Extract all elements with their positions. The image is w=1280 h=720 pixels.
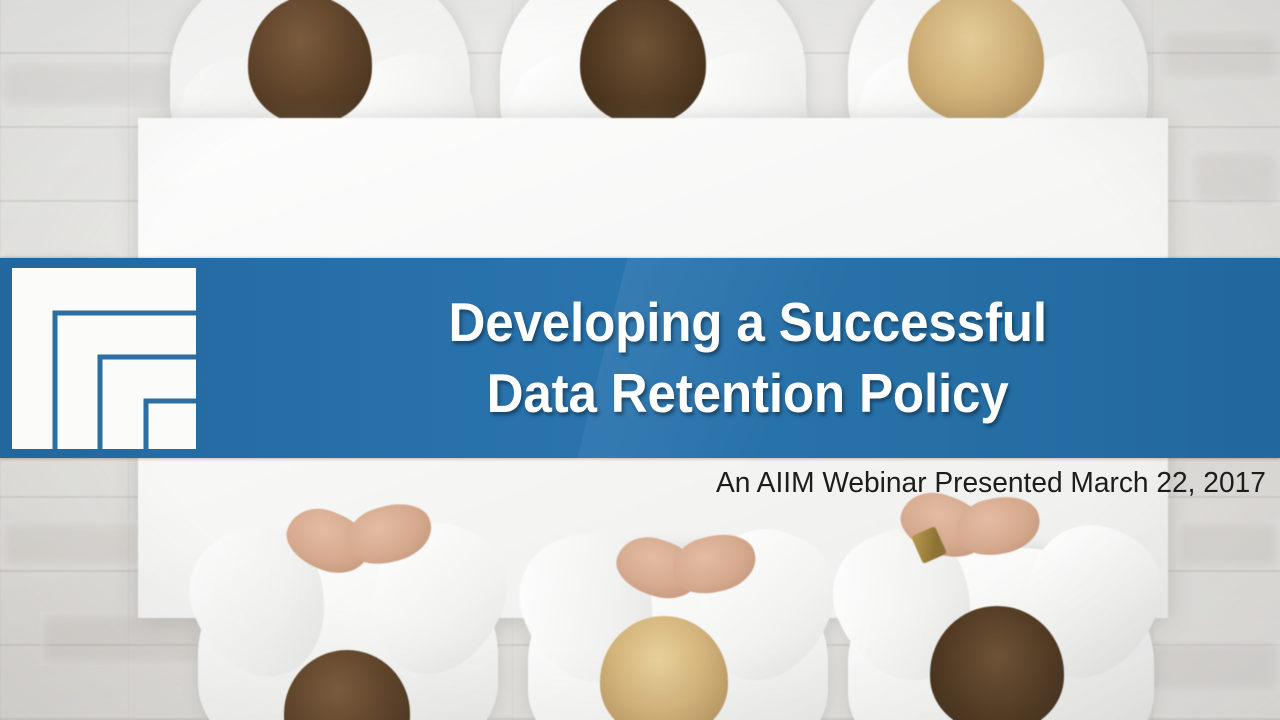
presentation-slide: Developing a Successful Data Retention P… (0, 0, 1280, 720)
floor-plank (0, 520, 140, 568)
title-line-1: Developing a Successful (449, 287, 1047, 359)
floor-plank (1160, 30, 1280, 80)
floor-plank (1140, 640, 1280, 692)
aiim-logo-icon (12, 268, 196, 449)
floor-plank (1176, 520, 1280, 570)
title-line-2: Data Retention Policy (487, 358, 1009, 430)
slide-subtitle: An AIIM Webinar Presented March 22, 2017 (716, 466, 1266, 501)
floor-plank (1190, 150, 1280, 206)
slide-title: Developing a Successful Data Retention P… (216, 258, 1280, 458)
floor-plank (0, 62, 176, 108)
floor-plank (40, 612, 206, 666)
